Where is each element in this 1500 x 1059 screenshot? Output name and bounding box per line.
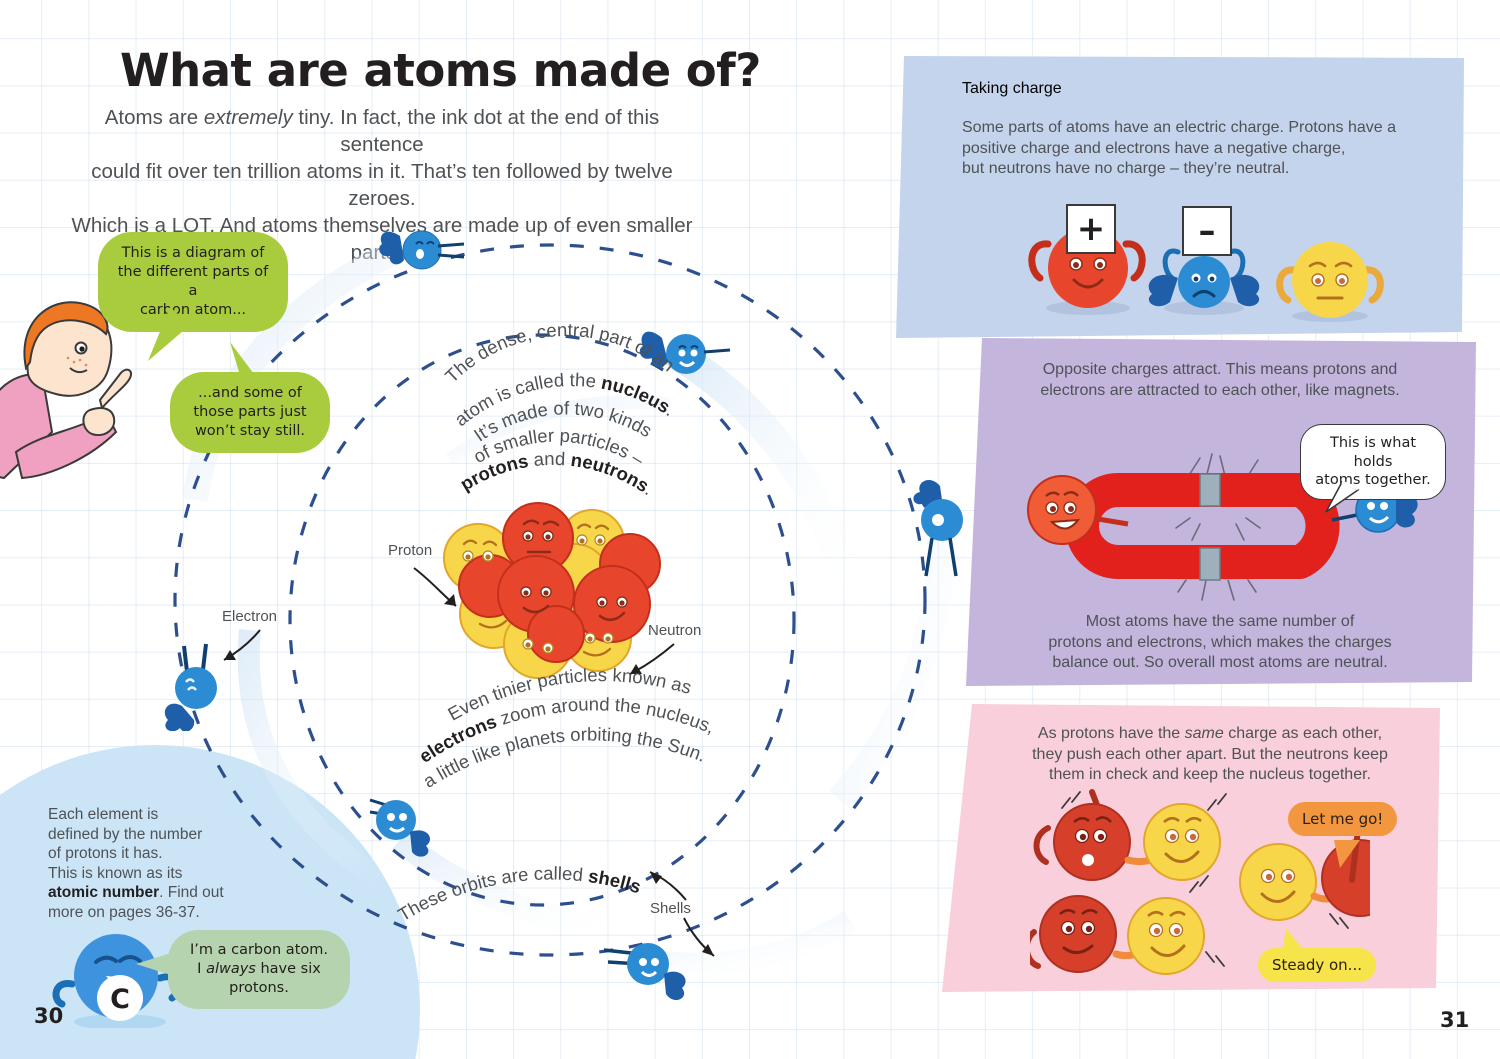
- neutron-neutral-character: [1268, 228, 1398, 329]
- bubble-still-line-3: won’t stay still.: [195, 423, 305, 439]
- steady-on-tail: [1276, 922, 1316, 958]
- carbon-bubble-line-2: I always have six protons.: [197, 961, 321, 996]
- opposite-line-2: electrons are attracted to each other, l…: [1040, 382, 1399, 399]
- page-number-left: 30: [34, 1004, 63, 1028]
- proton-label: Proton: [388, 542, 432, 559]
- proton-plus-character: +: [1026, 208, 1156, 321]
- most-atoms-line-2: protons and electrons, which makes the c…: [1048, 634, 1391, 651]
- carbon-bubble-tail: [132, 946, 182, 986]
- taking-charge-line-3: but neutrons have no charge – they’re ne…: [962, 160, 1289, 177]
- panel-protons-push-text: As protons have the same charge as each …: [990, 724, 1430, 786]
- plus-sign-box: +: [1066, 204, 1116, 254]
- bubble-diagram-line-1: This is a diagram of: [122, 245, 265, 261]
- carbon-bubble: I’m a carbon atom. I always have six pro…: [168, 930, 350, 1009]
- neutron-label: Neutron: [648, 622, 701, 639]
- push-line-1: As protons have the same charge as each …: [1038, 725, 1382, 742]
- let-me-go-bubble: Let me go!: [1288, 802, 1397, 836]
- electron-character-top-left: [378, 222, 468, 292]
- panel-taking-charge-text: Some parts of atoms have an electric cha…: [962, 118, 1482, 180]
- most-atoms-line-3: balance out. So overall most atoms are n…: [1052, 654, 1387, 671]
- carbon-bubble-line-1: I’m a carbon atom.: [190, 942, 328, 958]
- holds-atoms-bubble-tail: [1320, 480, 1370, 520]
- opposite-line-1: Opposite charges attract. This means pro…: [1043, 361, 1398, 378]
- page-title: What are atoms made of?: [120, 44, 820, 97]
- element-note: Each element is defined by the number of…: [48, 805, 248, 922]
- electron-label: Electron: [222, 608, 277, 625]
- bubble-diagram-tail: [118, 305, 208, 375]
- taking-charge-line-2: positive charge and electrons have a neg…: [962, 140, 1345, 157]
- bubble-diagram-line-2: the different parts of a: [118, 264, 268, 299]
- push-line-2: they push each other apart. But the neut…: [1032, 746, 1388, 763]
- let-me-go-text: Let me go!: [1302, 810, 1383, 828]
- shells-caption: These orbits are called shells.: [398, 876, 658, 951]
- panel-taking-charge-title: Taking charge: [962, 80, 1062, 98]
- push-line-3: them in check and keep the nucleus toget…: [1049, 766, 1371, 783]
- holds-atoms-line-1: This is what holds: [1330, 435, 1416, 470]
- bubble-still-line-2: those parts just: [193, 404, 306, 420]
- electron-caption: Even tinier particles known as electrons…: [412, 690, 732, 805]
- intro-line-1: Atoms are extremely tiny. In fact, the i…: [105, 106, 660, 156]
- steady-on-text: Steady on...: [1272, 956, 1362, 974]
- electron-label-arrow: [212, 626, 272, 676]
- bubble-still-tail: [212, 338, 282, 388]
- proton-label-arrow: [408, 562, 478, 622]
- plus-sign: +: [1077, 212, 1106, 246]
- carbon-symbol: C: [110, 984, 130, 1015]
- most-atoms-line-1: Most atoms have the same number of: [1086, 613, 1355, 630]
- element-note-line-1: Each element is: [48, 806, 158, 823]
- atomic-number-term: atomic number: [48, 884, 159, 901]
- element-note-line-5-rest: . Find out: [159, 884, 224, 901]
- element-note-line-3: of protons it has.: [48, 845, 163, 862]
- let-me-go-tail: [1330, 838, 1370, 874]
- taking-charge-line-1: Some parts of atoms have an electric cha…: [962, 119, 1396, 136]
- electron-minus-character: –: [1142, 208, 1272, 321]
- element-note-line-4: This is known as its: [48, 865, 182, 882]
- element-note-line-2: defined by the number: [48, 826, 202, 843]
- nucleus-caption: The dense, central part of an atom is ca…: [420, 368, 720, 503]
- book-spread: What are atoms made of? Atoms are extrem…: [0, 0, 1500, 1059]
- panel-opposite-charges-text-bottom: Most atoms have the same number of proto…: [1000, 612, 1440, 674]
- minus-sign: –: [1199, 214, 1216, 248]
- minus-sign-box: –: [1182, 206, 1232, 256]
- page-number-right: 31: [1440, 1008, 1469, 1032]
- panel-opposite-charges-text-top: Opposite charges attract. This means pro…: [1000, 360, 1440, 401]
